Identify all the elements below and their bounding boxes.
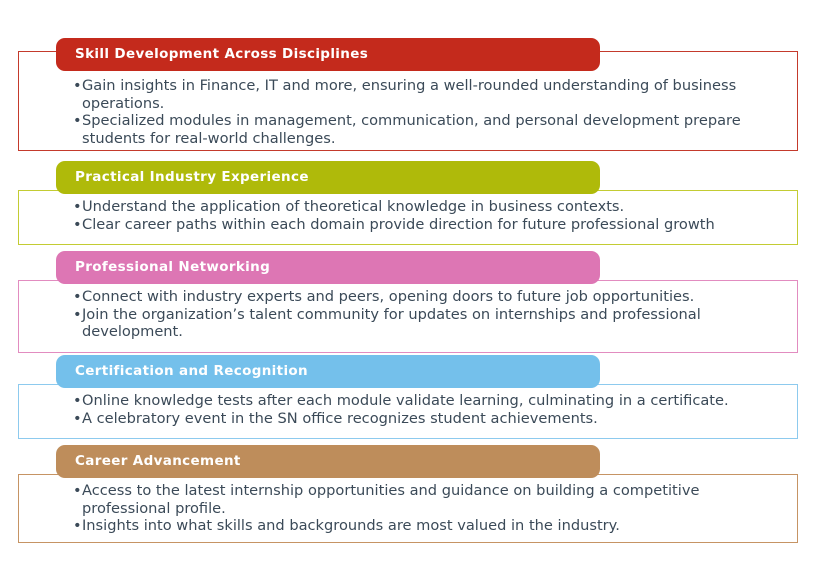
section-header-practical-industry-experience[interactable]: Practical Industry Experience [56, 161, 600, 194]
section-header-skill-development[interactable]: Skill Development Across Disciplines [56, 38, 600, 71]
section-body-career-advancement: •Access to the latest internship opportu… [73, 482, 784, 535]
section-frame-career-advancement [18, 474, 798, 543]
bullet-item: •Understand the application of theoretic… [73, 198, 784, 216]
bullet-text: A celebratory event in the SN office rec… [82, 410, 784, 428]
bullet-dot-icon: • [73, 288, 82, 306]
bullet-item: •A celebratory event in the SN office re… [73, 410, 784, 428]
bullet-dot-icon: • [73, 306, 82, 324]
section-practical-industry-experience: Practical Industry Experience•Understand… [18, 0, 798, 570]
bullet-dot-icon: • [73, 392, 82, 410]
section-title-career-advancement: Career Advancement [75, 455, 241, 469]
section-body-skill-development: •Gain insights in Finance, IT and more, … [73, 77, 784, 147]
bullet-item: •Access to the latest internship opportu… [73, 482, 784, 517]
bullet-item: •Online knowledge tests after each modul… [73, 392, 784, 410]
bullet-item: •Clear career paths within each domain p… [73, 216, 784, 234]
bullet-text: Clear career paths within each domain pr… [82, 216, 784, 234]
section-title-professional-networking: Professional Networking [75, 261, 270, 275]
section-title-skill-development: Skill Development Across Disciplines [75, 48, 368, 62]
bullet-text: Connect with industry experts and peers,… [82, 288, 784, 306]
section-body-professional-networking: •Connect with industry experts and peers… [73, 288, 784, 341]
bullet-dot-icon: • [73, 216, 82, 234]
section-frame-professional-networking [18, 280, 798, 353]
bullet-dot-icon: • [73, 112, 82, 130]
bullet-text: Access to the latest internship opportun… [82, 482, 784, 517]
section-body-practical-industry-experience: •Understand the application of theoretic… [73, 198, 784, 233]
bullet-text: Join the organization’s talent community… [82, 306, 784, 341]
bullet-text: Insights into what skills and background… [82, 517, 784, 535]
section-career-advancement: Career Advancement•Access to the latest … [18, 0, 798, 570]
section-header-certification-and-recognition[interactable]: Certification and Recognition [56, 355, 600, 388]
bullet-dot-icon: • [73, 482, 82, 500]
bullet-text: Online knowledge tests after each module… [82, 392, 784, 410]
bullet-item: •Join the organization’s talent communit… [73, 306, 784, 341]
section-title-certification-and-recognition: Certification and Recognition [75, 365, 308, 379]
section-header-professional-networking[interactable]: Professional Networking [56, 251, 600, 284]
infographic-board: Skill Development Across Disciplines•Gai… [0, 0, 814, 570]
bullet-dot-icon: • [73, 517, 82, 535]
section-frame-certification-and-recognition [18, 384, 798, 439]
section-professional-networking: Professional Networking•Connect with ind… [18, 0, 798, 570]
bullet-item: •Connect with industry experts and peers… [73, 288, 784, 306]
bullet-text: Specialized modules in management, commu… [82, 112, 784, 147]
bullet-item: •Insights into what skills and backgroun… [73, 517, 784, 535]
bullet-dot-icon: • [73, 198, 82, 216]
section-title-practical-industry-experience: Practical Industry Experience [75, 171, 309, 185]
bullet-text: Understand the application of theoretica… [82, 198, 784, 216]
section-frame-practical-industry-experience [18, 190, 798, 245]
section-certification-and-recognition: Certification and Recognition•Online kno… [18, 0, 798, 570]
bullet-dot-icon: • [73, 77, 82, 95]
bullet-item: •Specialized modules in management, comm… [73, 112, 784, 147]
bullet-dot-icon: • [73, 410, 82, 428]
bullet-text: Gain insights in Finance, IT and more, e… [82, 77, 784, 112]
section-body-certification-and-recognition: •Online knowledge tests after each modul… [73, 392, 784, 427]
section-skill-development: Skill Development Across Disciplines•Gai… [18, 0, 798, 570]
bullet-item: •Gain insights in Finance, IT and more, … [73, 77, 784, 112]
section-header-career-advancement[interactable]: Career Advancement [56, 445, 600, 478]
